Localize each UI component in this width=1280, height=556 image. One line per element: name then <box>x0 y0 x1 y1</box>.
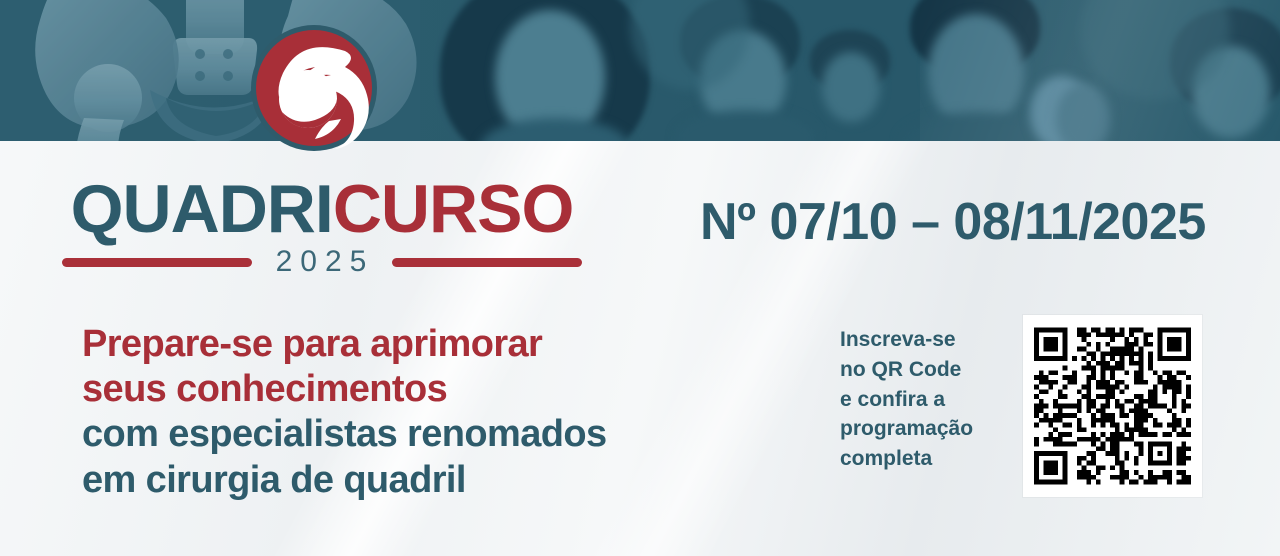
headline-line-1: Prepare-se para aprimorar <box>82 322 606 367</box>
headline-line-2: seus conhecimentos <box>82 367 606 412</box>
year-label: 2025 <box>270 247 375 277</box>
qr-cta-line-1: Inscreva-se <box>840 325 973 355</box>
event-date: Nº 07/10 – 08/11/2025 <box>700 192 1206 252</box>
year-rule-right <box>392 258 582 267</box>
header-photo-band <box>0 0 1280 141</box>
qr-code-card[interactable] <box>1023 315 1202 497</box>
event-banner: QUADRICURSO 2025 Nº 07/10 – 08/11/2025 P… <box>0 0 1280 556</box>
wordmark-text: QUADRICURSO <box>62 175 582 243</box>
headline-line-3: com especialistas renomados <box>82 412 606 457</box>
headline-line-4: em cirurgia de quadril <box>82 458 606 503</box>
qr-code[interactable] <box>1034 326 1191 486</box>
wordmark: QUADRICURSO <box>62 175 582 243</box>
band-sheen <box>920 0 1280 141</box>
wordmark-quadri: QUADRI <box>71 171 333 247</box>
qr-call-to-action: Inscreva-se no QR Code e confira a progr… <box>840 325 973 474</box>
headline: Prepare-se para aprimorar seus conhecime… <box>82 322 606 503</box>
qr-cta-line-5: completa <box>840 444 973 474</box>
qr-cta-line-3: e confira a <box>840 385 973 415</box>
qr-cta-line-2: no QR Code <box>840 355 973 385</box>
quadricurso-spiral-logo <box>249 23 379 153</box>
year-lockup: 2025 <box>62 247 582 277</box>
year-rule-left <box>62 258 252 267</box>
wordmark-curso: CURSO <box>333 171 574 247</box>
qr-cta-line-4: programação <box>840 414 973 444</box>
